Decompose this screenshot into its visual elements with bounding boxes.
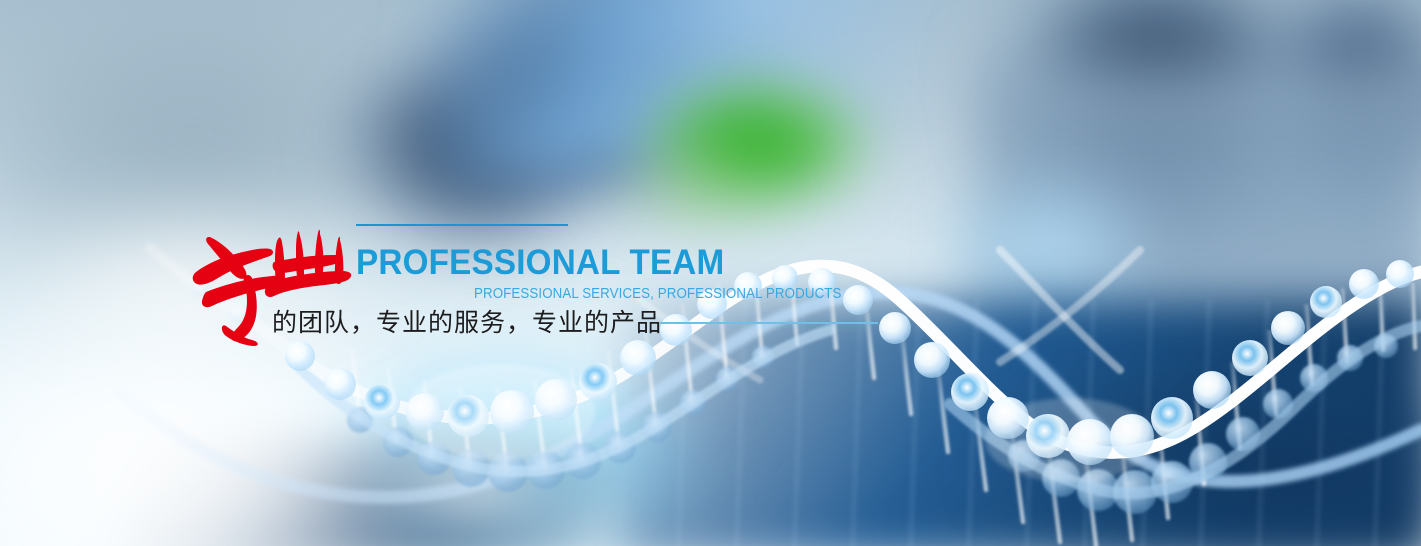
banner-text-block: PROFESSIONAL TEAM PROFESSIONAL SERVICES,… (0, 0, 1421, 546)
divider-line-bottom (660, 322, 878, 324)
banner-subtitle-english: PROFESSIONAL SERVICES, PROFESSIONAL PROD… (474, 285, 842, 303)
banner-title-english: PROFESSIONAL TEAM (356, 243, 724, 283)
divider-line-top (356, 224, 568, 226)
banner-subtitle-chinese: 的团队，专业的服务，专业的产品 (272, 306, 662, 340)
promo-banner: PROFESSIONAL TEAM PROFESSIONAL SERVICES,… (0, 0, 1421, 546)
